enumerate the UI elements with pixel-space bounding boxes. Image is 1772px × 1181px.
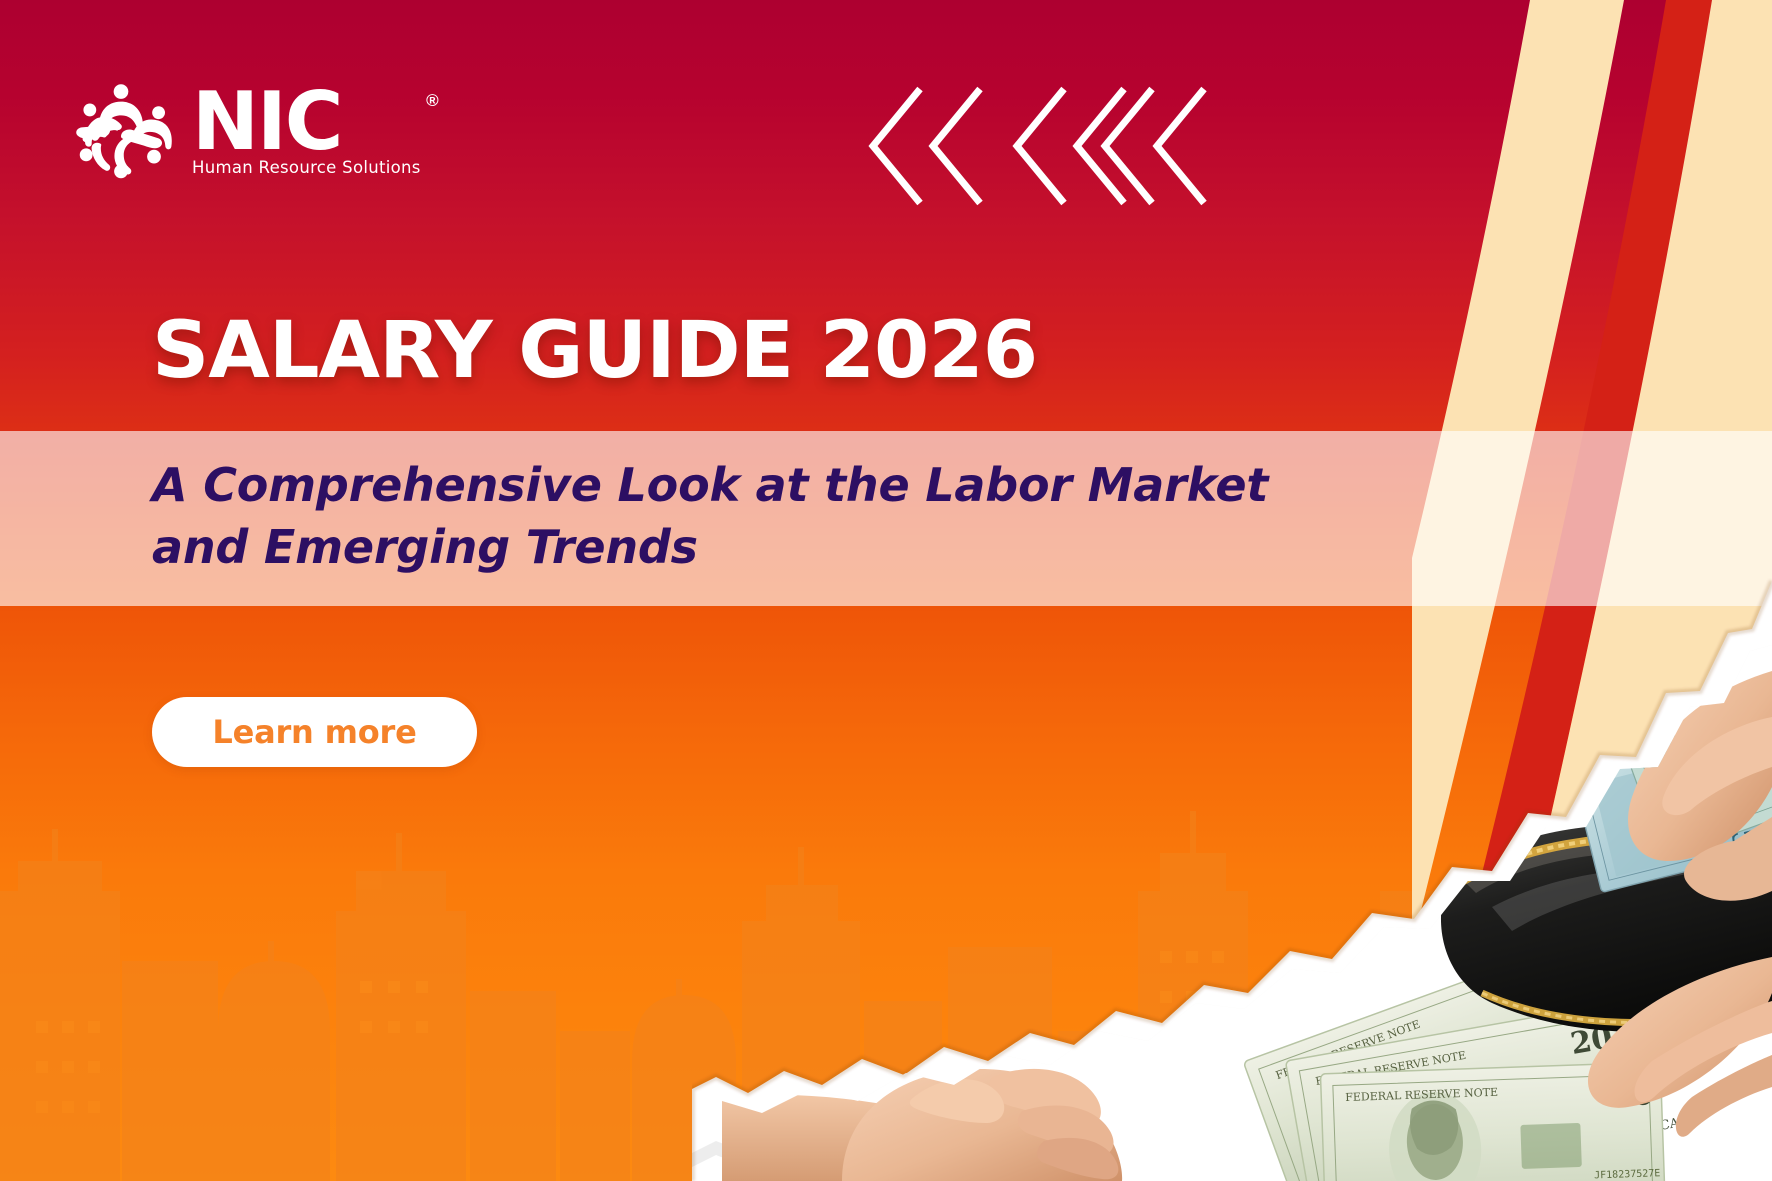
nic-wordmark-block: NIC ® Human Resource Solutions [192,85,421,177]
learn-more-button[interactable]: Learn more [152,697,477,767]
learn-more-label: Learn more [212,713,416,751]
torn-paper-money-handoff-photo: 20 FEDERAL RESERVE NOTE TWENTY DOLLARS 2… [692,541,1772,1181]
registered-trademark-icon: ® [426,91,439,111]
nic-people-star-mark [66,76,176,186]
logo-tagline: Human Resource Solutions [192,158,421,177]
salary-guide-banner: NIC ® Human Resource Solutions SALARY GU… [0,0,1772,1181]
double-chevron-left-icon [868,84,1208,209]
page-title: SALARY GUIDE 2026 [152,312,1037,390]
nic-logo[interactable]: NIC ® Human Resource Solutions [66,76,421,186]
nic-wordmark: NIC [192,89,421,155]
subtitle-line-1: A Comprehensive Look at the Labor Market [152,455,1212,517]
svg-text:JF18237527E: JF18237527E [1594,1168,1661,1181]
